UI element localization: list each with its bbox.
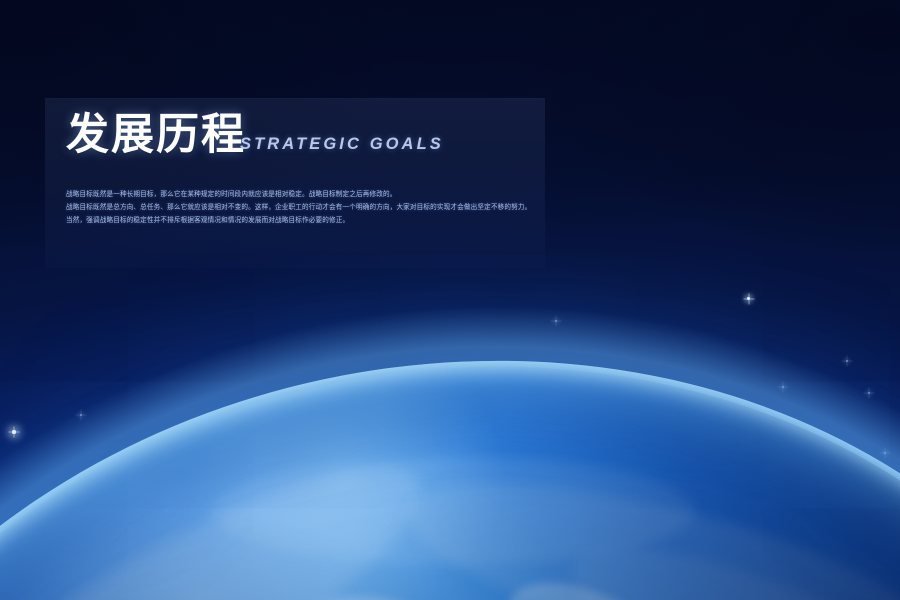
earth-globe: [0, 372, 900, 600]
star-panel-right: [555, 320, 557, 322]
star-right-mid: [747, 297, 750, 300]
earth-rim-light: [0, 230, 900, 600]
star-right-low: [846, 360, 848, 362]
space-vignette: [0, 0, 900, 600]
earth-terminator-shading: [0, 237, 900, 600]
star-right-upper: [868, 392, 870, 394]
earth-cloud-texture: [0, 237, 900, 600]
star-mid-low: [625, 382, 627, 384]
headline-block: 发展历程 STRATEGIC GOALS: [66, 114, 444, 157]
star-upper-mid: [278, 415, 280, 417]
earth-atmosphere-halo: [0, 166, 900, 600]
space-earth-banner: 发展历程 STRATEGIC GOALS 战略目标既然是一种长期目标，那么它在某…: [0, 0, 900, 600]
star-left-bright: [12, 430, 16, 434]
page-subtitle: STRATEGIC GOALS: [240, 135, 444, 157]
body-copy: 战略目标既然是一种长期目标，那么它在某种规定的时间段内就应该是相对稳定。战略目标…: [66, 188, 536, 228]
body-line: 战略目标既然是总方向、总任务、那么它就应该是相对不变的。这样，企业职工的行动才会…: [66, 201, 536, 214]
star-left-small: [80, 414, 82, 416]
body-line: 当然，强调战略目标的稳定性并不排斥根据客观情况和情况的发展而对战略目标作必要的修…: [66, 214, 536, 227]
star-mid-low-two: [782, 386, 784, 388]
star-far-right: [884, 452, 886, 454]
page-title: 发展历程: [66, 114, 246, 157]
body-line: 战略目标既然是一种长期目标，那么它在某种规定的时间段内就应该是相对稳定。战略目标…: [66, 188, 536, 201]
earth-sphere: [0, 237, 900, 600]
